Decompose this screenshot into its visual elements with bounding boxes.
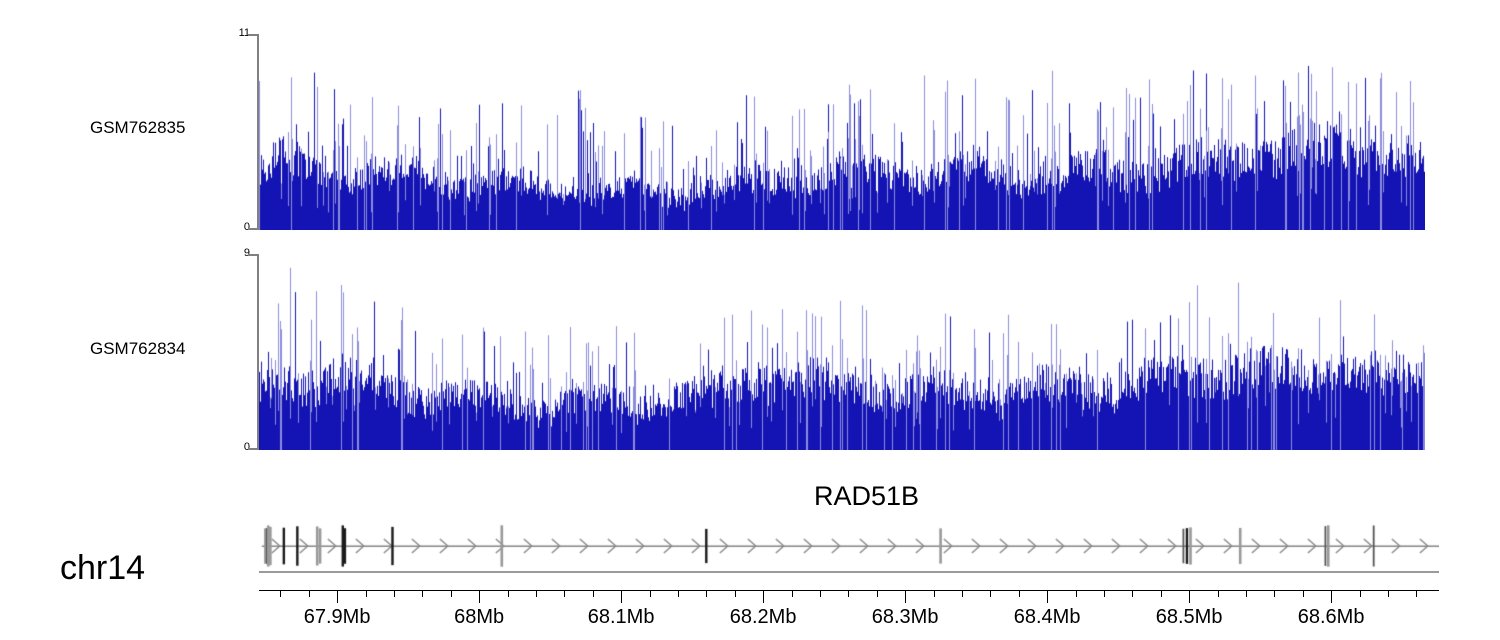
genome-browser-view: GSM762835 11 0 GSM762834 9 0 RAD51B chr1… [0, 0, 1500, 640]
ruler-tick-label: 68Mb [454, 607, 504, 627]
ruler-tick-label: 67.9Mb [304, 607, 371, 627]
track2-axis-min-label: 0 [222, 442, 250, 453]
ruler-minor-tick [422, 590, 423, 597]
track-label-gsm762835: GSM762835 [90, 119, 185, 136]
track2-axis-max-label: 9 [222, 248, 250, 259]
ruler-tick-label: 68.5Mb [1156, 607, 1223, 627]
ruler-minor-tick [1132, 590, 1133, 597]
ruler-minor-tick [564, 590, 565, 597]
ruler-major-tick [905, 590, 906, 603]
ruler-tick-label: 68.3Mb [872, 607, 939, 627]
ruler-major-tick [479, 590, 480, 603]
ruler-minor-tick [508, 590, 509, 597]
ruler-major-tick [1189, 590, 1190, 603]
ruler-minor-tick [309, 590, 310, 597]
ruler-minor-tick [1104, 590, 1105, 597]
ruler-minor-tick [706, 590, 707, 597]
ruler-minor-tick [1360, 590, 1361, 597]
ruler-minor-tick [1274, 590, 1275, 597]
ruler-major-tick [337, 590, 338, 603]
ruler-minor-tick [1019, 590, 1020, 597]
ruler-minor-tick [1076, 590, 1077, 597]
ruler-minor-tick [366, 590, 367, 597]
ruler-minor-tick [1416, 590, 1417, 597]
ruler-minor-tick [820, 590, 821, 597]
coverage-plot-gsm762835 [259, 34, 1425, 230]
ruler-minor-tick [1218, 590, 1219, 597]
ruler-minor-tick [934, 590, 935, 597]
chromosome-label: chr14 [60, 551, 145, 585]
ruler-major-tick [763, 590, 764, 603]
ruler-minor-tick [1161, 590, 1162, 597]
coverage-plot-gsm762834 [259, 254, 1425, 450]
ruler-minor-tick [848, 590, 849, 597]
ruler-major-tick [1047, 590, 1048, 603]
ruler-minor-tick [451, 590, 452, 597]
ruler-minor-tick [394, 590, 395, 597]
ruler-tick-label: 68.4Mb [1014, 607, 1081, 627]
ruler-minor-tick [990, 590, 991, 597]
track2-tick-min [248, 448, 259, 450]
ruler-minor-tick [735, 590, 736, 597]
ruler-minor-tick [593, 590, 594, 597]
ruler-tick-label: 68.2Mb [730, 607, 797, 627]
track1-axis-min-label: 0 [222, 222, 250, 233]
ruler-minor-tick [1388, 590, 1389, 597]
ruler-tick-label: 68.1Mb [588, 607, 655, 627]
ruler-major-tick [1331, 590, 1332, 603]
ruler-minor-tick [1246, 590, 1247, 597]
ruler-minor-tick [280, 590, 281, 597]
ruler-minor-tick [962, 590, 963, 597]
gene-name-label[interactable]: RAD51B [814, 483, 919, 510]
ruler-minor-tick [1303, 590, 1304, 597]
ruler-minor-tick [792, 590, 793, 597]
ruler-minor-tick [877, 590, 878, 597]
track1-tick-max [248, 34, 259, 36]
ruler-minor-tick [536, 590, 537, 597]
track2-tick-max [248, 254, 259, 256]
gene-model-track[interactable] [259, 512, 1439, 568]
ruler-minor-tick [678, 590, 679, 597]
ruler-minor-tick [650, 590, 651, 597]
ruler-major-tick [621, 590, 622, 603]
genomic-coordinate-ruler[interactable]: 67.9Mb68Mb68.1Mb68.2Mb68.3Mb68.4Mb68.5Mb… [259, 590, 1439, 638]
track1-tick-min [248, 228, 259, 230]
track1-axis-max-label: 11 [222, 28, 250, 39]
gene-track-separator [259, 571, 1439, 573]
track-label-gsm762834: GSM762834 [90, 340, 185, 357]
ruler-tick-label: 68.6Mb [1298, 607, 1365, 627]
